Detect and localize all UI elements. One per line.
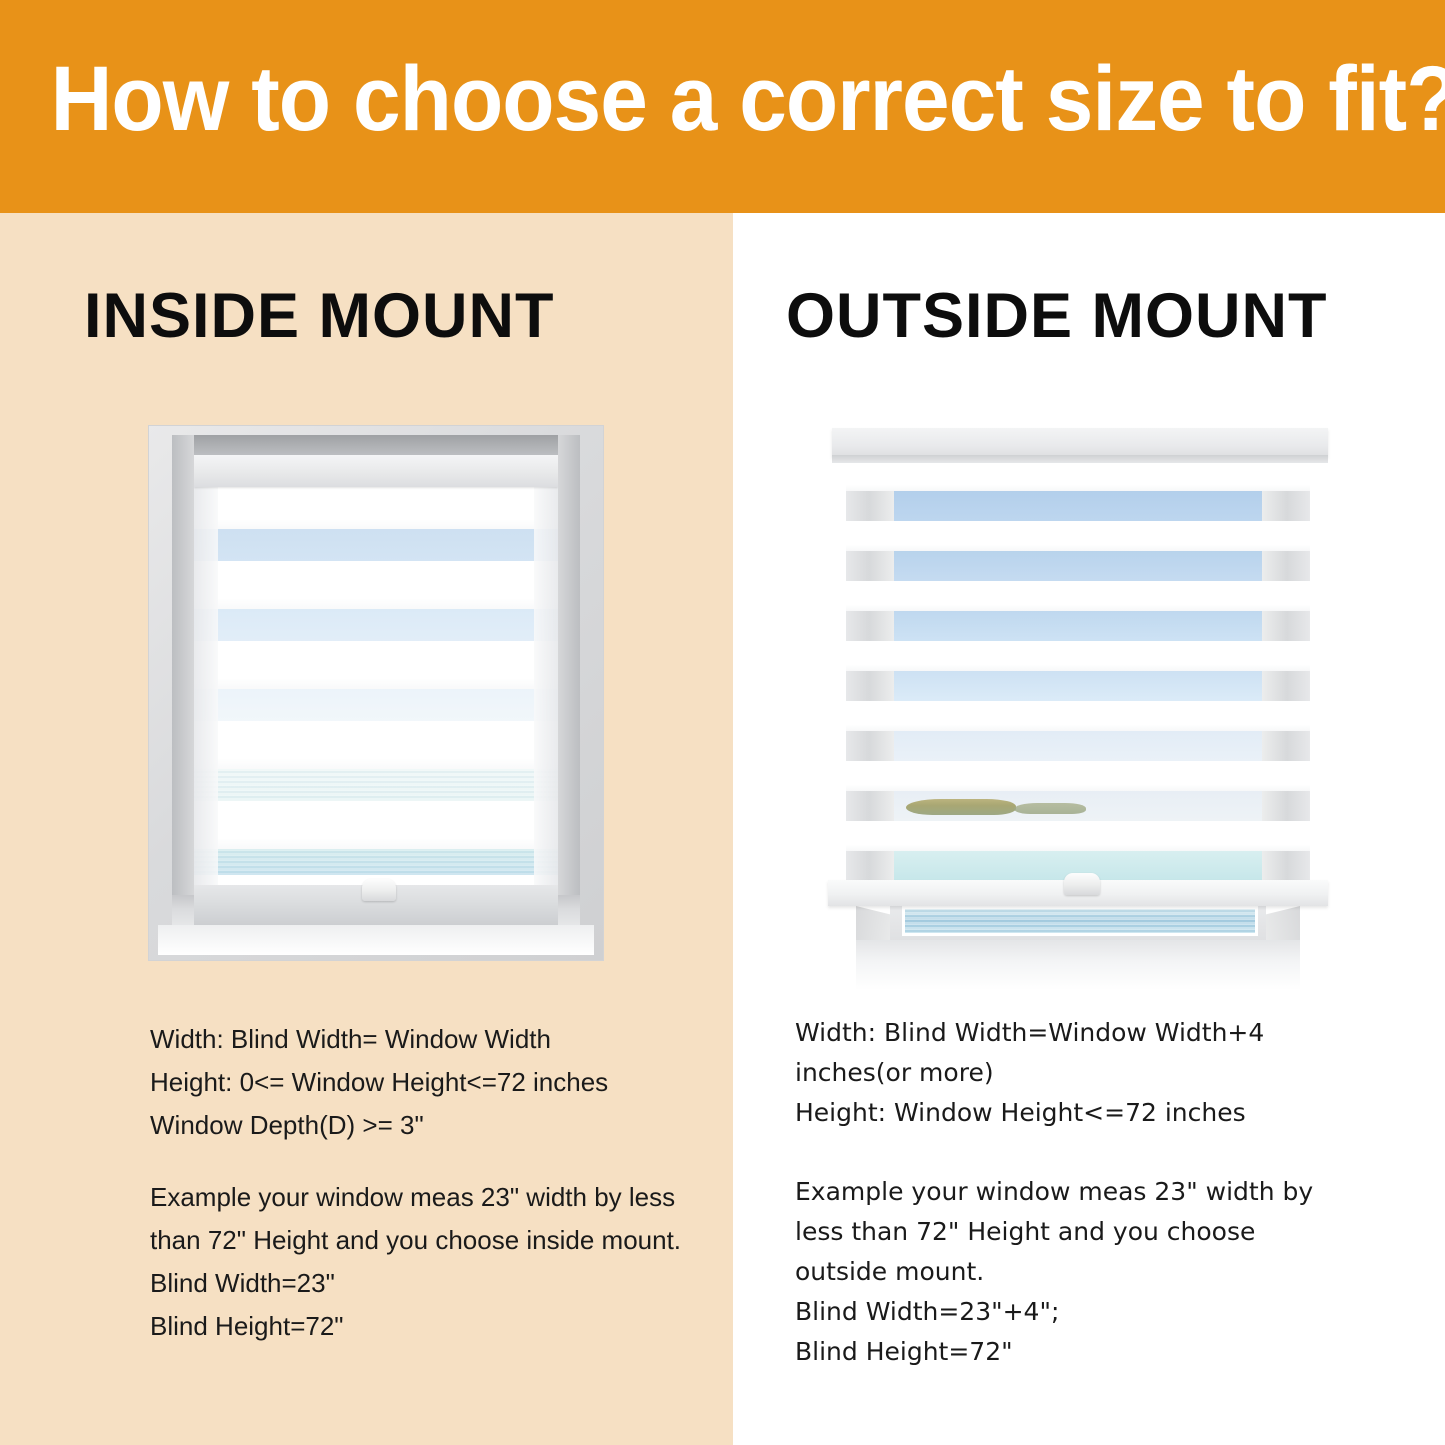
blind-headrail	[832, 428, 1328, 457]
blind-sheer-band	[846, 791, 1310, 821]
blind-slat	[194, 801, 558, 849]
blind-headrail-underside	[832, 455, 1328, 463]
blind-pull-handle[interactable]	[362, 879, 396, 901]
inside-mount-heading: INSIDE MOUNT	[84, 281, 555, 351]
blind-headrail	[194, 455, 558, 487]
band-end-cap-right	[1262, 731, 1310, 761]
band-end-cap-left	[846, 731, 894, 761]
band-end-cap-left	[846, 791, 894, 821]
inside-mount-spec-text: Width: Blind Width= Window Width Height:…	[150, 1018, 710, 1147]
blind-sheer-band	[846, 671, 1310, 701]
sea-texture	[905, 909, 1255, 936]
blind-sheer-band	[846, 611, 1310, 641]
band-end-cap-left	[846, 671, 894, 701]
page-title: How to choose a correct size to fit?	[51, 44, 1395, 154]
band-end-cap-left	[846, 611, 894, 641]
band-end-cap-right	[1262, 671, 1310, 701]
band-end-cap-right	[1262, 611, 1310, 641]
band-end-cap-right	[1262, 551, 1310, 581]
blind-slat	[846, 581, 1310, 611]
island-shape	[906, 799, 1016, 815]
outside-mount-spec-text: Width: Blind Width=Window Width+4 inches…	[795, 1013, 1355, 1133]
blind-slat	[846, 521, 1310, 551]
blind-slat	[846, 761, 1310, 791]
window-sill-floor	[856, 940, 1300, 990]
blind-slat	[846, 701, 1310, 731]
band-end-cap-left	[846, 551, 894, 581]
blind-slat	[194, 487, 558, 529]
blind-pull-handle[interactable]	[1064, 873, 1100, 895]
outside-mount-window-illustration	[828, 425, 1328, 961]
blind-slat	[846, 821, 1310, 851]
band-view-gap	[894, 671, 1262, 701]
blind-sheer-band	[846, 731, 1310, 761]
band-view-gap	[894, 731, 1262, 761]
blind-slat	[194, 641, 558, 689]
band-view-gap	[894, 611, 1262, 641]
blind-side-strip-right	[534, 487, 558, 925]
band-end-cap-left	[846, 851, 894, 881]
inside-mount-example-text: Example your window meas 23" width by le…	[150, 1176, 710, 1348]
blind-slat	[194, 561, 558, 609]
blind-slat	[846, 463, 1310, 491]
band-view-gap	[894, 551, 1262, 581]
window-lower-view	[902, 906, 1258, 936]
blind-slat	[194, 721, 558, 769]
band-view-gap	[894, 791, 1262, 821]
outside-mount-heading: OUTSIDE MOUNT	[786, 281, 1328, 351]
outside-mount-example-text: Example your window meas 23" width by le…	[795, 1172, 1355, 1372]
infographic-page: How to choose a correct size to fit? INS…	[0, 0, 1445, 1445]
window-opening	[194, 455, 558, 925]
window-sill-face	[158, 925, 594, 955]
band-end-cap-right	[1262, 851, 1310, 881]
band-end-cap-right	[1262, 791, 1310, 821]
blind-sheer-band	[846, 491, 1310, 521]
blind-sheer-band	[846, 551, 1310, 581]
header-banner: How to choose a correct size to fit?	[0, 0, 1445, 213]
blind-side-strip-left	[194, 487, 218, 925]
inside-mount-window-illustration	[148, 425, 604, 961]
window-reveal-left	[172, 435, 194, 935]
band-end-cap-left	[846, 491, 894, 521]
band-view-gap	[894, 491, 1262, 521]
window-reveal-right	[558, 435, 580, 935]
island-shape-secondary	[1014, 803, 1086, 814]
band-end-cap-right	[1262, 491, 1310, 521]
blind-slat	[846, 641, 1310, 671]
